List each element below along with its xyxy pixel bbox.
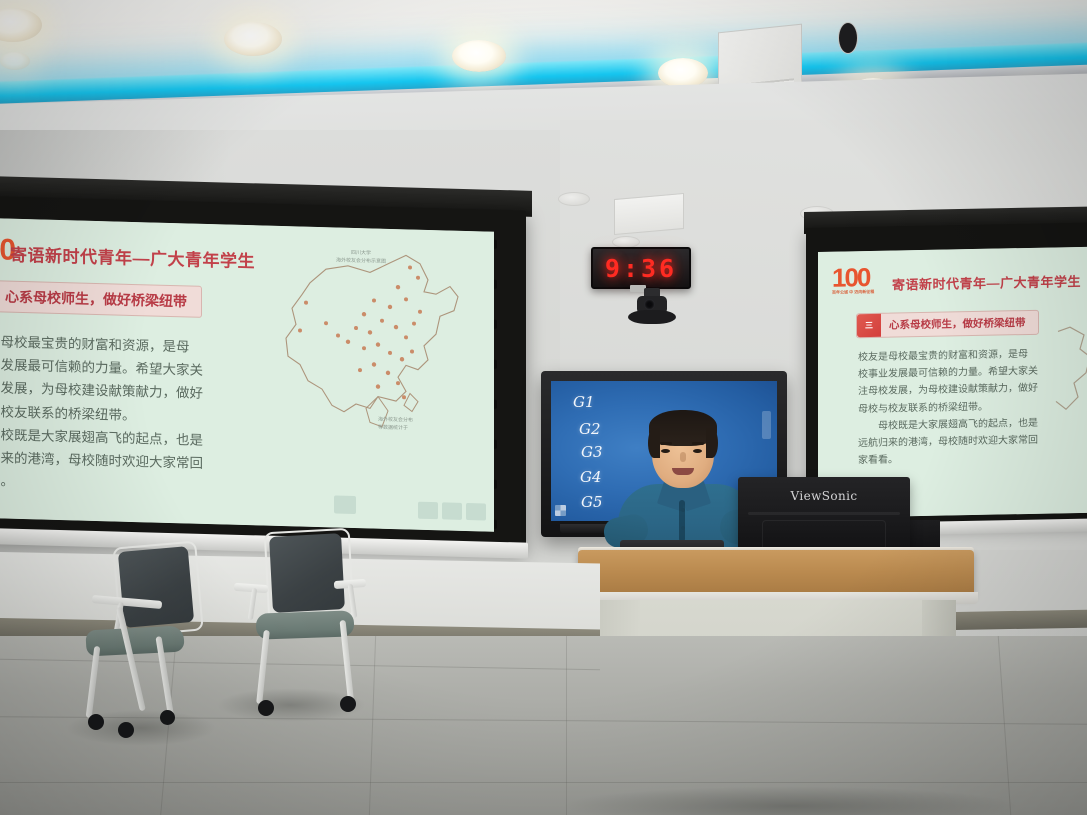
badge-label-left: 心系母校师生，做好桥梁纽带 (5, 287, 187, 312)
chair-caster-2 (340, 696, 356, 712)
chair-caster-3 (160, 710, 175, 725)
monitor-ridge (748, 512, 900, 515)
slide-badge-left: 三 心系母校师生，做好桥梁纽带 (0, 280, 202, 318)
slide-body-right: 校友是母校最宝贵的财富和资源，是母 校事业发展最可信赖的力量。希望大家关 注母校… (858, 345, 1058, 469)
presenter-brow-right (692, 442, 704, 445)
interactive-display-side-buttons[interactable] (762, 411, 771, 439)
presenter-hair-right (706, 428, 718, 458)
slide-control-3[interactable] (442, 502, 462, 520)
slide-title-left: 寄语新时代青年—广大青年学生 (10, 241, 255, 273)
digital-clock: 9:36 (591, 247, 691, 289)
centennial-logo-right: 100 百年公诚 中 迈向新征程 (832, 265, 874, 294)
ceiling-speaker-1 (838, 22, 858, 54)
chair-leg-front-left (256, 630, 270, 704)
slide-title-right: 寄语新时代青年—广大青年学生 (892, 271, 1081, 294)
china-map-caption: 海外校友会分布 等数据统计于 (378, 417, 413, 433)
slide-body-left: 校友是母校最宝贵的财富和资源，是母 校事业发展最可信赖的力量。希望大家关 注母校… (0, 329, 210, 498)
china-map (278, 238, 478, 473)
viewsonic-brand-label: ViewSonic (738, 489, 910, 503)
ptz-camera-lens (644, 299, 655, 310)
handwriting-g2: G2 (579, 420, 601, 438)
handwriting-g4: G4 (580, 468, 602, 486)
slide-badge-right: 三 心系母校师生，做好桥梁纽带 (856, 310, 1039, 339)
chair-caster-1 (258, 700, 274, 716)
badge-label-right: 心系母校师生，做好桥梁纽带 (889, 315, 1026, 333)
handwriting-g5: G5 (581, 493, 603, 511)
ptz-camera (628, 288, 676, 330)
badge-tab-right: 三 (857, 314, 881, 337)
presenter-eye-left (661, 449, 670, 453)
chair-caster-1 (88, 714, 104, 730)
baseboard-right (956, 610, 1087, 630)
presenter-hair-left (648, 428, 660, 458)
ceiling-speaker-2 (558, 192, 590, 206)
slide-control-4[interactable] (466, 503, 486, 521)
handwriting-g3: G3 (581, 443, 603, 461)
presenter-mouth (672, 468, 694, 475)
chair-seat[interactable] (85, 625, 184, 656)
slide-left: 100 寄语新时代青年—广大青年学生 三 心系母校师生，做好桥梁纽带 校友是母校… (0, 218, 494, 532)
downlight-3 (452, 40, 506, 72)
presenter-eye-right (693, 449, 702, 453)
chair-backrest (269, 533, 345, 613)
center-ceiling-panel (614, 193, 684, 235)
folding-chair-right[interactable] (228, 528, 408, 726)
china-map-fragment (1050, 324, 1087, 415)
clock-time: 9:36 (605, 254, 677, 283)
chair-backrest (118, 546, 194, 628)
downlight-7 (0, 52, 30, 70)
podium-desktop (578, 550, 974, 596)
presenter-brow-left (660, 442, 672, 445)
centennial-logo-subtitle: 百年公诚 中 迈向新征程 (832, 290, 874, 295)
china-map-title: 四川大学 海外校友会分布示意图 (336, 249, 386, 265)
lecture-hall-photo: 100 寄语新时代青年—广大青年学生 三 心系母校师生，做好桥梁纽带 校友是母校… (0, 0, 1087, 815)
slide-control-1[interactable] (334, 495, 356, 514)
chair-leg-front-left (86, 646, 101, 718)
slide-control-2[interactable] (418, 502, 438, 520)
projection-screen-left: 100 寄语新时代青年—广大青年学生 三 心系母校师生，做好桥梁纽带 校友是母校… (0, 218, 494, 532)
presenter-nose (680, 452, 686, 462)
chair-caster-2 (118, 722, 134, 738)
downlight-2 (224, 22, 282, 56)
presenter-shirt-placket (679, 500, 685, 542)
folding-chair-left[interactable] (74, 540, 254, 740)
chair-arm-support (248, 588, 257, 620)
ptz-camera-base (628, 310, 676, 324)
windows-icon (555, 505, 566, 516)
handwriting-g1: G1 (573, 393, 595, 411)
